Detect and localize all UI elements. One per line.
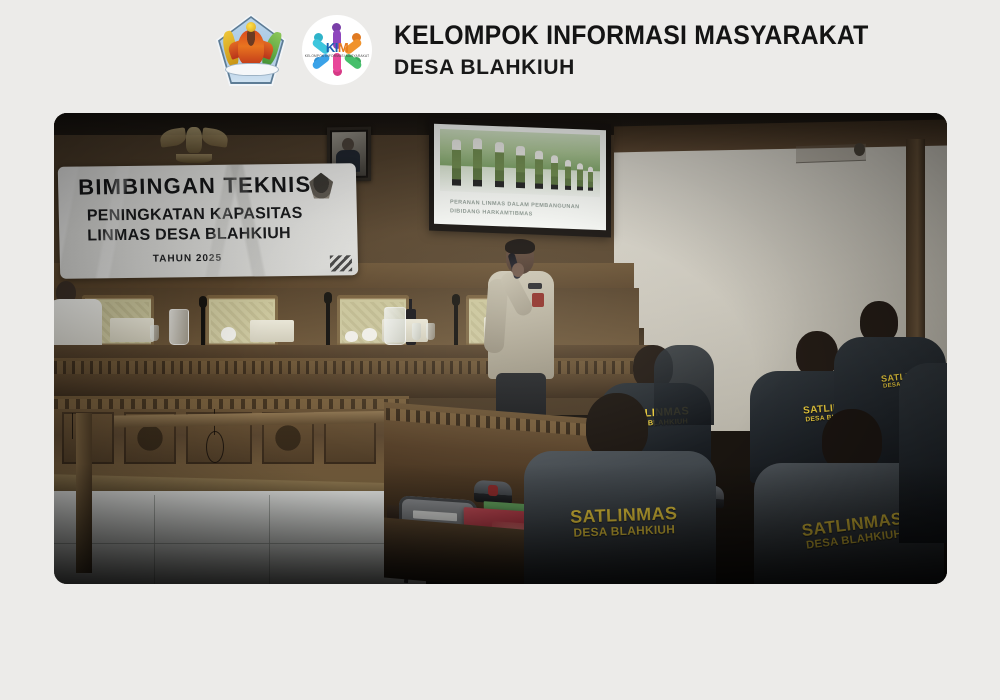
water-pitcher <box>169 309 189 345</box>
drinking-glass <box>150 325 159 341</box>
floor-tile-line <box>154 495 155 584</box>
attendee-shirt-text: SATLINMAS DESA BLAHKIUH <box>559 503 688 541</box>
page-subtitle: DESA BLAHKIUH <box>394 56 910 79</box>
tiled-floor <box>54 491 426 584</box>
covered-cup <box>221 327 236 341</box>
garuda-tail <box>176 154 212 163</box>
seated-official-white-shirt <box>54 299 102 349</box>
garuda-wing-right <box>201 127 229 147</box>
drinking-glass <box>426 323 435 340</box>
kim-logo-text: KIM <box>302 41 372 54</box>
slide-marcher <box>551 155 558 189</box>
desk-divider-post <box>76 413 92 573</box>
slide-marcher <box>473 138 482 186</box>
floor-tile-line <box>269 495 270 584</box>
slide-marcher <box>565 160 571 190</box>
slide-marcher <box>577 163 583 190</box>
lower-wall-carving <box>54 399 409 409</box>
attendee-shoulder <box>654 345 714 425</box>
event-photo: BIMBINGAN TEKNIS PENINGKATAN KAPASITAS L… <box>54 113 947 584</box>
wall-vent-hole <box>854 143 865 156</box>
table-microphone <box>326 299 330 351</box>
slide-caption: PERANAN LINMAS DALAM PEMBANGUNAN DIBIDAN… <box>450 198 596 221</box>
officer-hair <box>505 239 535 254</box>
photo-scene: BIMBINGAN TEKNIS PENINGKATAN KAPASITAS L… <box>54 113 947 584</box>
banner-line-3-text: LINMAS DESA BLAHKIUH <box>87 225 291 244</box>
banner-emblem-icon <box>309 172 334 198</box>
page-title: KELOMPOK INFORMASI MASYARAKAT <box>394 21 869 49</box>
banner-line-1: BIMBINGAN TEKNIS <box>78 172 312 201</box>
attendee-edge-right <box>899 363 947 543</box>
page-header: KIM KELOMPOK INFORMASI MASYARAKAT KELOMP… <box>0 0 1000 100</box>
covered-cup <box>345 331 358 342</box>
slide-marcher <box>588 167 593 191</box>
projector-screen: PERANAN LINMAS DALAM PEMBANGUNAN DIBIDAN… <box>434 124 606 231</box>
emblem-crown <box>246 22 256 32</box>
badung-regency-emblem-icon <box>216 14 286 86</box>
banner-year: TAHUN 2025 <box>153 253 223 265</box>
officer-name-tag <box>528 283 542 289</box>
garuda-pancasila-icon <box>157 123 231 163</box>
slide-image <box>440 129 600 197</box>
garuda-wing-left <box>159 127 187 147</box>
kim-logo-subtext: KELOMPOK INFORMASI MASYARAKAT <box>302 54 372 58</box>
tissue-box <box>110 318 154 342</box>
garuda-body <box>186 127 202 153</box>
floor-tile-line <box>54 543 414 544</box>
cable-loop <box>206 431 224 463</box>
slide-marcher <box>535 151 543 189</box>
officer-chest-patch <box>532 293 544 307</box>
tissue-box <box>250 320 294 342</box>
cap-badge-icon <box>488 485 498 497</box>
banner-line-2-text: PENINGKATAN KAPASITAS <box>87 205 303 225</box>
event-banner: BIMBINGAN TEKNIS PENINGKATAN KAPASITAS L… <box>58 163 359 279</box>
slide-caption-line-2: DIBIDANG HARKAMTIBMAS <box>450 208 533 217</box>
water-pitcher <box>384 307 406 345</box>
emblem-barong-figure <box>238 30 264 66</box>
slide-marcher <box>495 142 504 187</box>
drinking-glass <box>412 323 421 340</box>
table-microphone <box>201 303 205 351</box>
slide-marcher <box>452 139 461 185</box>
banner-line-2: PENINGKATAN KAPASITAS LINMAS DESA BLAHKI… <box>87 204 304 248</box>
projector-screen-frame: PERANAN LINMAS DALAM PEMBANGUNAN DIBIDAN… <box>429 118 611 238</box>
slide-marcher <box>516 146 525 188</box>
emblem-motto-scroll <box>225 63 279 76</box>
uniform-cap <box>474 480 512 505</box>
covered-cup <box>362 328 377 341</box>
header-title-block: KELOMPOK INFORMASI MASYARAKAT DESA BLAHK… <box>394 21 910 78</box>
banner-corner-mark <box>330 255 352 271</box>
table-microphone <box>454 301 458 351</box>
hanging-cable <box>72 413 73 439</box>
kim-logo-icon: KIM KELOMPOK INFORMASI MASYARAKAT <box>302 15 372 85</box>
officer-hand <box>512 263 524 277</box>
